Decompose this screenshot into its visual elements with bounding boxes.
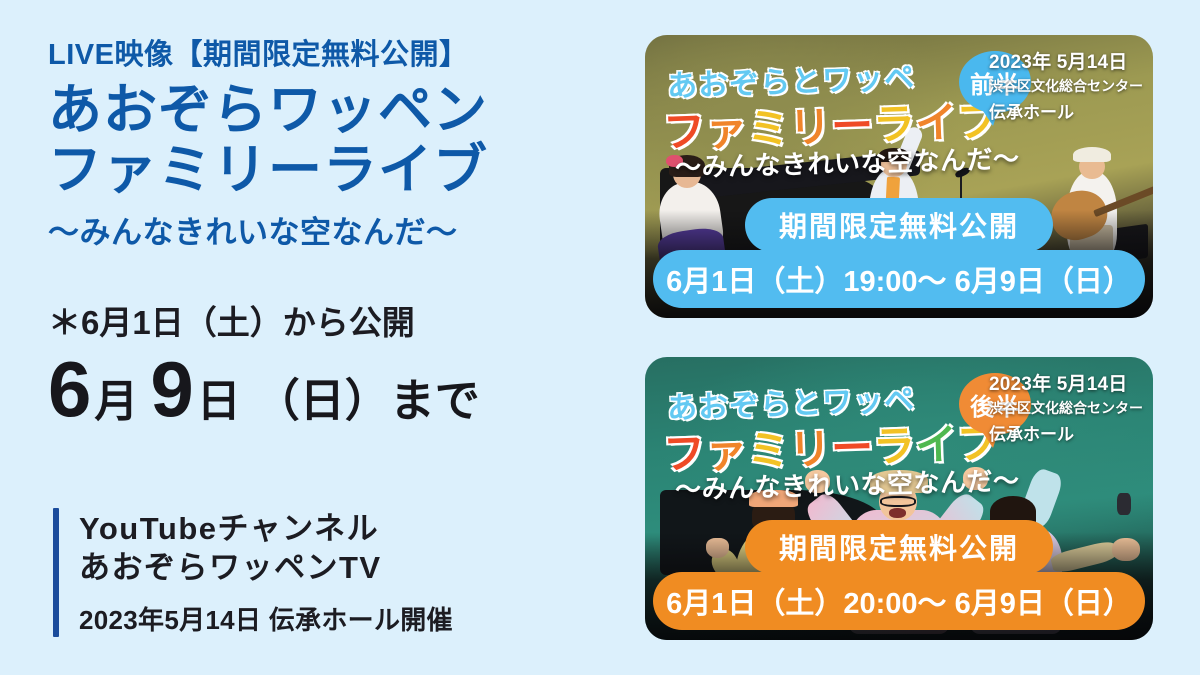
venue-date: 2023年 5月14日 (989, 369, 1143, 396)
deadline-day-unit: 日 (197, 380, 241, 424)
venue-hall: 伝承ホール (989, 98, 1143, 123)
page-subtitle: 〜みんなきれいな空なんだ〜 (48, 207, 628, 252)
youtube-channel-block[interactable]: YouTubeチャンネル あおぞらワッペンTV 2023年5月14日 伝承ホール… (53, 508, 453, 637)
poster-canvas: LIVE映像【期間限定無料公開】 あおぞらワッペン ファミリーライブ 〜みんなき… (0, 0, 1200, 675)
publish-start-note: ＊6月1日（土）から公開 (48, 296, 628, 344)
eyebrow-label: LIVE映像【期間限定無料公開】 (48, 40, 628, 72)
venue-name: 渋谷区文化総合センター (989, 76, 1143, 96)
free-release-badge-second-half: 期間限定無料公開 (745, 520, 1053, 574)
availability-window-first-half: 6月1日（土）19:00〜 6月9日（日） (653, 250, 1145, 308)
left-info-column: LIVE映像【期間限定無料公開】 あおぞらワッペン ファミリーライブ 〜みんなき… (48, 40, 628, 640)
deadline-month-number: 6 (48, 350, 90, 428)
accent-bar (53, 508, 59, 637)
youtube-channel-text: YouTubeチャンネル あおぞらワッペンTV 2023年5月14日 伝承ホール… (79, 508, 453, 637)
page-title: あおぞらワッペン ファミリーライブ (48, 80, 628, 201)
venue-date: 2023年 5月14日 (989, 47, 1143, 74)
event-date-venue: 2023年5月14日 伝承ホール開催 (79, 600, 453, 637)
page-title-line-1: あおぞらワッペン (48, 80, 488, 140)
free-release-badge-first-half: 期間限定無料公開 (745, 198, 1053, 252)
microphone-icon (1117, 493, 1130, 516)
performer-guitarist-hat (1073, 147, 1112, 163)
video-card-first-half[interactable]: あおぞらとワッペ ファミリーライブ 〜みんなきれいな空なんだ〜 前半 2023年… (645, 35, 1153, 318)
deadline-day-number: 9 (150, 350, 192, 428)
availability-window-second-half: 6月1日（土）20:00〜 6月9日（日） (653, 572, 1145, 630)
deadline-tail: （日）まで (255, 378, 480, 423)
youtube-channel-name: あおぞらワッペンTV (79, 549, 453, 588)
deadline-date: 6 月 9 日 （日）まで (48, 350, 628, 428)
venue-info-second-half: 2023年 5月14日 渋谷区文化総合センター 伝承ホール (989, 369, 1143, 445)
venue-info-first-half: 2023年 5月14日 渋谷区文化総合センター 伝承ホール (989, 47, 1143, 123)
page-title-line-2: ファミリーライブ (48, 140, 628, 200)
venue-hall: 伝承ホール (989, 420, 1143, 445)
venue-name: 渋谷区文化総合センター (989, 398, 1143, 418)
video-card-second-half[interactable]: あおぞらとワッペ ファミリーライブ 〜みんなきれいな空なんだ〜 後半 2023年… (645, 357, 1153, 640)
youtube-channel-label: YouTubeチャンネル (79, 510, 453, 549)
deadline-month-unit: 月 (94, 380, 138, 424)
